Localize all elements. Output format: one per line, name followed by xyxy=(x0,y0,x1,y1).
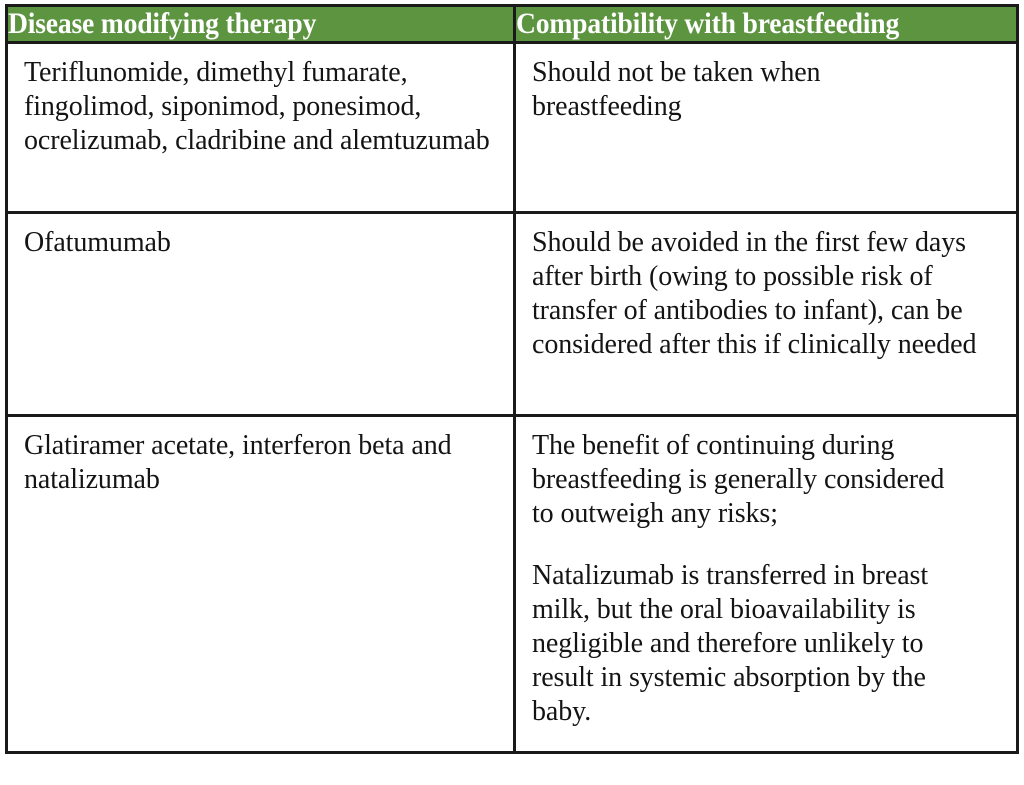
compatibility-paragraph: Should not be taken when breastfeeding xyxy=(532,56,932,124)
cell-therapy-row-1: Teriflunomide, dimethyl fumarate, fingol… xyxy=(7,43,515,213)
therapy-text: Glatiramer acetate, interferon beta and … xyxy=(24,429,497,497)
table-row: Ofatumumab Should be avoided in the firs… xyxy=(7,213,1018,416)
cell-content: The benefit of continuing during breastf… xyxy=(516,417,1016,743)
column-header-label-compatibility: Compatibility with breastfeeding xyxy=(516,7,976,41)
cell-compatibility-row-3: The benefit of continuing during breastf… xyxy=(515,416,1018,753)
cell-compatibility-row-2: Should be avoided in the first few days … xyxy=(515,213,1018,416)
cell-content: Should not be taken when breastfeeding xyxy=(516,44,1016,138)
table-row: Teriflunomide, dimethyl fumarate, fingol… xyxy=(7,43,1018,213)
compatibility-paragraph: Should be avoided in the first few days … xyxy=(532,226,1000,362)
therapy-text: Teriflunomide, dimethyl fumarate, fingol… xyxy=(24,56,492,158)
cell-content: Teriflunomide, dimethyl fumarate, fingol… xyxy=(8,44,513,172)
cell-content: Ofatumumab xyxy=(8,214,513,274)
table-body: Teriflunomide, dimethyl fumarate, fingol… xyxy=(7,43,1018,753)
column-header-compatibility-with-breastfeeding: Compatibility with breastfeeding xyxy=(515,6,1018,43)
compatibility-paragraph: The benefit of continuing during breastf… xyxy=(532,429,972,531)
disease-modifying-therapy-table: Disease modifying therapy Compatibility … xyxy=(5,4,1019,754)
table-row: Glatiramer acetate, interferon beta and … xyxy=(7,416,1018,753)
cell-content: Should be avoided in the first few days … xyxy=(516,214,1016,376)
page-root: Disease modifying therapy Compatibility … xyxy=(0,0,1024,785)
column-header-disease-modifying-therapy: Disease modifying therapy xyxy=(7,6,515,43)
column-header-label-therapy: Disease modifying therapy xyxy=(8,7,473,41)
therapy-text: Ofatumumab xyxy=(24,226,497,260)
cell-therapy-row-3: Glatiramer acetate, interferon beta and … xyxy=(7,416,515,753)
table-header-row: Disease modifying therapy Compatibility … xyxy=(7,6,1018,43)
table-header: Disease modifying therapy Compatibility … xyxy=(7,6,1018,43)
cell-content: Glatiramer acetate, interferon beta and … xyxy=(8,417,513,511)
cell-therapy-row-2: Ofatumumab xyxy=(7,213,515,416)
compatibility-paragraph: Natalizumab is transferred in breast mil… xyxy=(532,559,962,729)
cell-compatibility-row-1: Should not be taken when breastfeeding xyxy=(515,43,1018,213)
